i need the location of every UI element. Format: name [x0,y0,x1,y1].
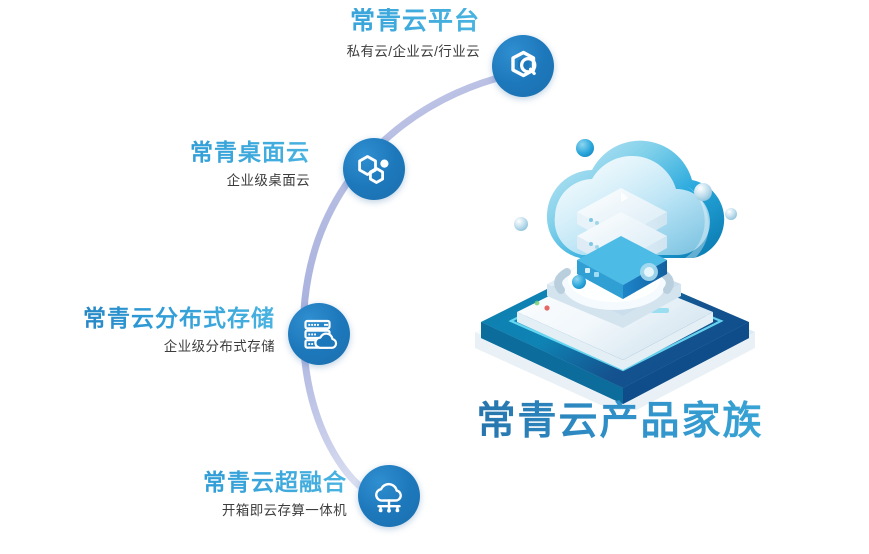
node-hci-subtitle: 开箱即云存算一体机 [0,504,347,519]
node-platform-title: 常青云平台 [0,8,480,36]
node-storage-title: 常青云分布式存储 [0,306,275,331]
node-hci-title: 常青云超融合 [0,470,347,495]
server-cloud-icon[interactable] [288,303,350,365]
product-family-infographic: 常青云平台 私有云/企业云/行业云 常青桌面云 企业级桌面云 [0,0,869,554]
node-storage-text: 常青云分布式存储 企业级分布式存储 [0,306,275,355]
cloud-network-icon[interactable] [358,465,420,527]
node-platform-text: 常青云平台 私有云/企业云/行业云 [0,8,480,59]
node-hci-text: 常青云超融合 开箱即云存算一体机 [0,470,347,519]
node-desktop-subtitle: 企业级桌面云 [0,174,310,189]
node-desktop-text: 常青桌面云 企业级桌面云 [0,140,310,189]
hero-title: 常青云产品家族 [455,400,785,445]
node-platform-subtitle: 私有云/企业云/行业云 [0,45,480,60]
node-desktop-title: 常青桌面云 [0,140,310,165]
cloud-server-on-platform-3d [455,120,785,410]
cq-hexagon-logo-icon[interactable] [492,35,554,97]
node-storage-subtitle: 企业级分布式存储 [0,340,275,355]
hexagon-nodes-icon[interactable] [343,138,405,200]
